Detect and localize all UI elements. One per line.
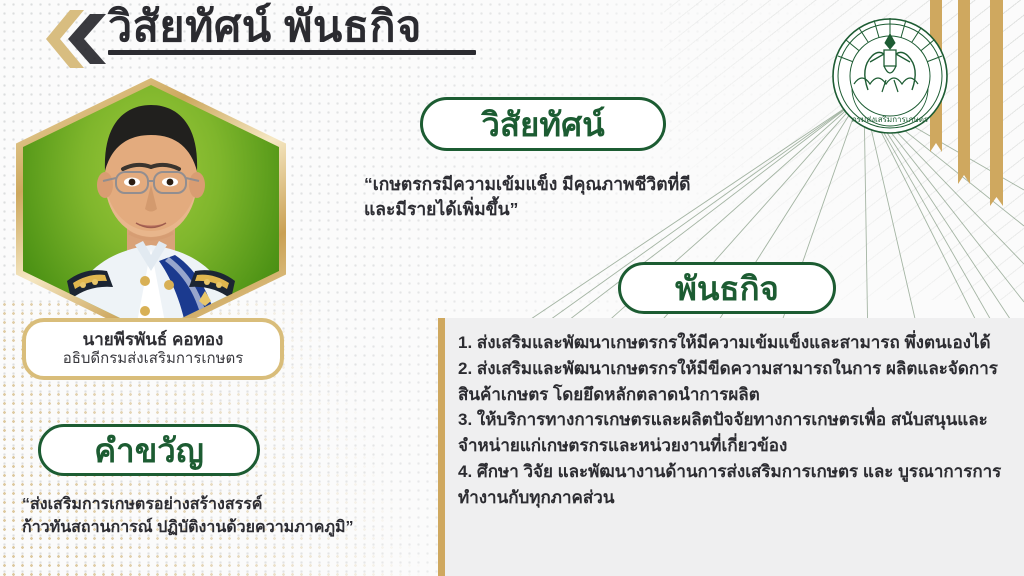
mission-item: 3. ให้บริการทางการเกษตรและผลิตปัจจัยทางก… bbox=[458, 407, 1006, 459]
seal-caption: กรมส่งเสริมการเกษตร bbox=[852, 115, 929, 124]
nameplate: นายพีรพันธ์ คอทอง อธิบดีกรมส่งเสริมการเก… bbox=[22, 318, 284, 380]
vision-text: “เกษตรกรมีความเข้มแข็ง มีคุณภาพชีวิตที่ด… bbox=[364, 172, 784, 223]
mission-heading-pill: พันธกิจ bbox=[618, 262, 836, 314]
mission-list: 1. ส่งเสริมและพัฒนาเกษตรกรให้มีความเข้มแ… bbox=[458, 330, 1006, 511]
slogan-line-2: ก้าวทันสถานการณ์ ปฏิบัติงานด้วยความภาคภู… bbox=[22, 517, 452, 540]
vision-line-2: และมีรายได้เพิ่มขึ้น” bbox=[364, 197, 784, 222]
vision-line-1: “เกษตรกรมีความเข้มแข็ง มีคุณภาพชีวิตที่ด… bbox=[364, 172, 784, 197]
slogan-heading-pill: คำขวัญ bbox=[38, 424, 260, 476]
portrait-photo bbox=[16, 78, 286, 340]
page-title: วิสัยทัศน์ พันธกิจ bbox=[108, 2, 476, 54]
slide-canvas: วิสัยทัศน์ พันธกิจ bbox=[0, 0, 1024, 576]
person-position: อธิบดีกรมส่งเสริมการเกษตร bbox=[63, 350, 244, 369]
vision-heading-pill: วิสัยทัศน์ bbox=[420, 97, 666, 151]
mission-item: 4. ศึกษา วิจัย และพัฒนางานด้านการส่งเสริ… bbox=[458, 459, 1006, 511]
chevron-logo-mark bbox=[40, 8, 112, 70]
mission-item: 1. ส่งเสริมและพัฒนาเกษตรกรให้มีความเข้มแ… bbox=[458, 330, 1006, 356]
mission-item: 2. ส่งเสริมและพัฒนาเกษตรกรให้มีขีดความสา… bbox=[458, 356, 1006, 408]
slogan-line-1: “ส่งเสริมการเกษตรอย่างสร้างสรรค์ bbox=[22, 494, 452, 517]
slogan-text: “ส่งเสริมการเกษตรอย่างสร้างสรรค์ ก้าวทัน… bbox=[22, 494, 452, 539]
page-title-block: วิสัยทัศน์ พันธกิจ bbox=[108, 2, 476, 55]
department-seal: กรมส่งเสริมการเกษตร bbox=[828, 14, 952, 138]
person-name: นายพีรพันธ์ คอทอง bbox=[83, 329, 224, 350]
